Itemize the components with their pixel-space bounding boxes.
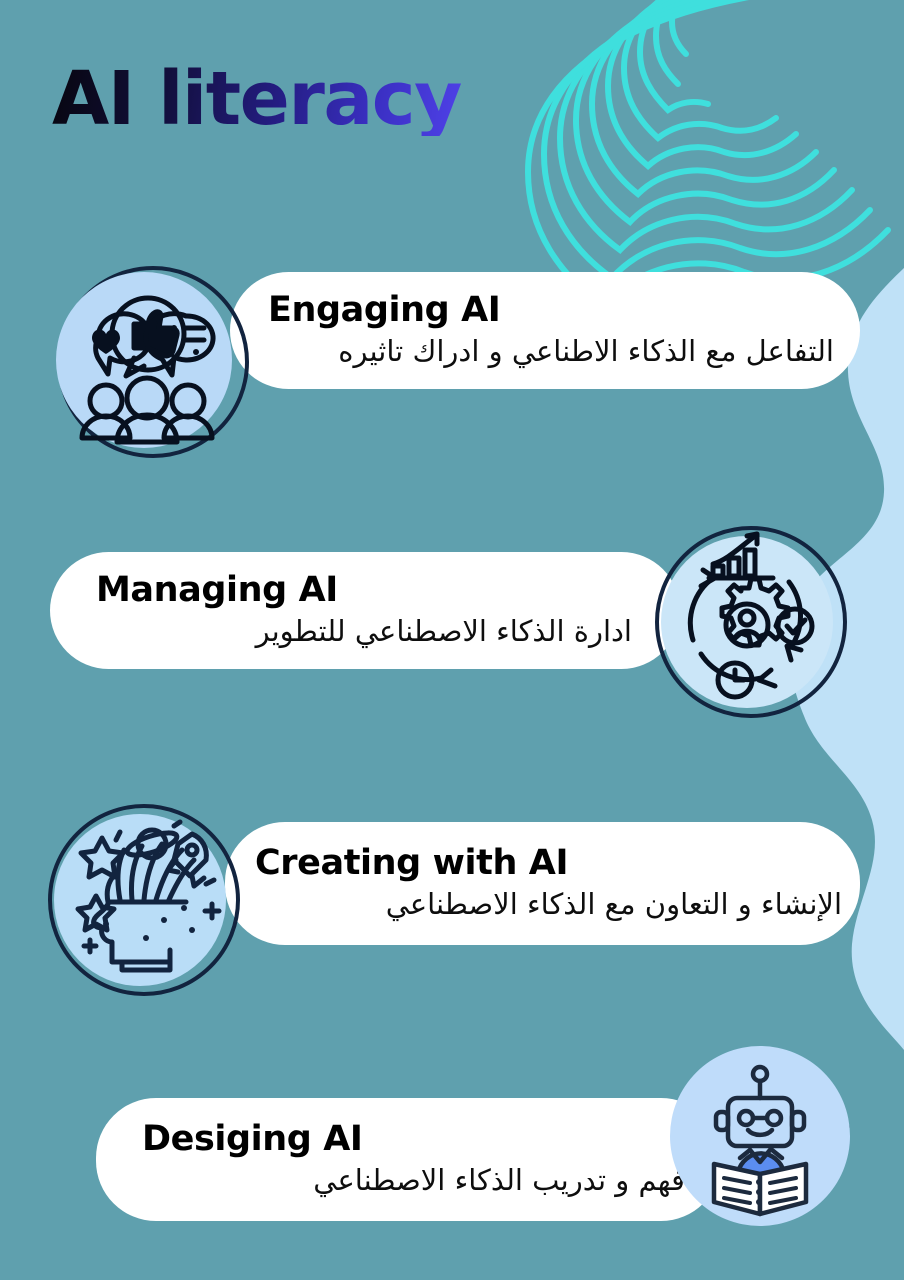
card-subtitle-managing-ai: ادارة الذكاء الاصطناعي للتطوير — [50, 613, 632, 649]
card-title-engaging-ai: Engaging AI — [268, 292, 860, 329]
card-title-managing-ai: Managing AI — [96, 572, 680, 609]
card-creating-with-ai[interactable]: Creating with AI الإنشاء و التعاون مع ال… — [225, 822, 860, 945]
card-subtitle-designing-ai: فهم و تدريب الذكاء الاصطناعي — [96, 1162, 685, 1198]
card-title-creating-with-ai: Creating with AI — [255, 845, 860, 882]
card-managing-ai[interactable]: Managing AI ادارة الذكاء الاصطناعي للتطو… — [50, 552, 680, 669]
robot-reading-book-icon — [662, 1032, 862, 1232]
card-subtitle-creating-with-ai: الإنشاء و التعاون مع الذكاء الاصطناعي — [225, 886, 842, 922]
social-engagement-icon — [48, 262, 248, 462]
ai-literacy-poster: AI literacy Engaging AI التفاعل مع الذكا… — [0, 0, 904, 1280]
card-engaging-ai[interactable]: Engaging AI التفاعل مع الذكاء الاطناعي و… — [230, 272, 860, 389]
creative-mind-icon — [46, 800, 246, 1000]
page-title: AI literacy — [52, 62, 461, 136]
card-subtitle-engaging-ai: التفاعل مع الذكاء الاطناعي و ادراك تاثير… — [230, 333, 834, 369]
card-designing-ai[interactable]: Desiging AI فهم و تدريب الذكاء الاصطناعي — [96, 1098, 721, 1221]
card-title-designing-ai: Desiging AI — [142, 1121, 721, 1158]
gear-process-management-icon — [655, 522, 855, 722]
